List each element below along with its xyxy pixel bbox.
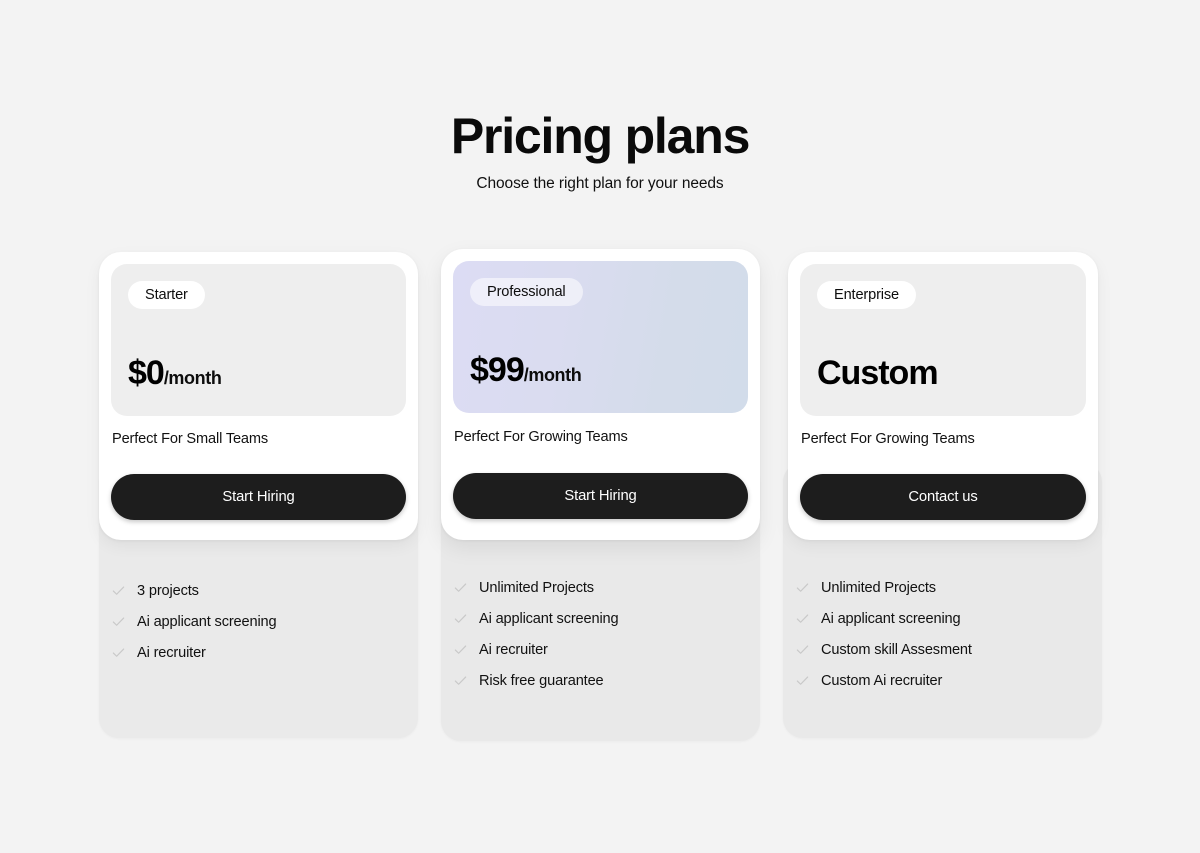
price-period: /month xyxy=(524,366,582,384)
check-icon xyxy=(795,673,810,688)
page-subtitle: Choose the right plan for your needs xyxy=(0,175,1200,193)
plan-badge: Professional xyxy=(470,278,583,306)
check-icon xyxy=(795,642,810,657)
price: $0 /month xyxy=(128,356,221,390)
feature-label: Ai applicant screening xyxy=(479,611,618,627)
price-amount: Custom xyxy=(817,356,938,390)
feature-label: Unlimited Projects xyxy=(821,580,936,596)
feature-label: Risk free guarantee xyxy=(479,673,604,689)
list-item: Ai recruiter xyxy=(111,637,406,668)
feature-label: Custom skill Assesment xyxy=(821,642,972,658)
features-list: 3 projects Ai applicant screening Ai rec… xyxy=(111,575,406,668)
feature-label: Ai recruiter xyxy=(137,645,206,661)
price: Custom xyxy=(817,356,938,390)
check-icon xyxy=(795,611,810,626)
feature-label: Ai applicant screening xyxy=(137,614,276,630)
check-icon xyxy=(453,611,468,626)
feature-label: Unlimited Projects xyxy=(479,580,594,596)
check-icon xyxy=(111,645,126,660)
list-item: Unlimited Projects xyxy=(795,572,1090,603)
plan-card: Enterprise Custom Perfect For Growing Te… xyxy=(788,252,1098,540)
feature-label: Ai recruiter xyxy=(479,642,548,658)
plan-tagline: Perfect For Small Teams xyxy=(112,431,268,447)
feature-label: Ai applicant screening xyxy=(821,611,960,627)
price: $99 /month xyxy=(470,353,581,387)
pricing-plans-container: 3 projects Ai applicant screening Ai rec… xyxy=(99,252,1101,752)
page-header: Pricing plans Choose the right plan for … xyxy=(0,108,1200,193)
cta-button-start-hiring[interactable]: Start Hiring xyxy=(453,473,748,519)
check-icon xyxy=(111,614,126,629)
pricing-plan-professional: Unlimited Projects Ai applicant screenin… xyxy=(441,249,760,741)
pricing-plan-enterprise: Unlimited Projects Ai applicant screenin… xyxy=(783,252,1102,738)
check-icon xyxy=(453,673,468,688)
feature-label: Custom Ai recruiter xyxy=(821,673,942,689)
plan-badge: Enterprise xyxy=(817,281,916,309)
page-title: Pricing plans xyxy=(0,108,1200,164)
check-icon xyxy=(453,580,468,595)
features-list: Unlimited Projects Ai applicant screenin… xyxy=(795,572,1090,696)
price-panel: Enterprise Custom xyxy=(800,264,1086,416)
pricing-plan-starter: 3 projects Ai applicant screening Ai rec… xyxy=(99,252,418,738)
feature-label: 3 projects xyxy=(137,583,199,599)
plan-badge: Starter xyxy=(128,281,205,309)
check-icon xyxy=(453,642,468,657)
list-item: 3 projects xyxy=(111,575,406,606)
list-item: Ai applicant screening xyxy=(453,603,748,634)
list-item: Ai applicant screening xyxy=(111,606,406,637)
list-item: Ai recruiter xyxy=(453,634,748,665)
list-item: Custom Ai recruiter xyxy=(795,665,1090,696)
check-icon xyxy=(111,583,126,598)
check-icon xyxy=(795,580,810,595)
price-amount: $99 xyxy=(470,353,524,387)
plan-tagline: Perfect For Growing Teams xyxy=(801,431,975,447)
list-item: Unlimited Projects xyxy=(453,572,748,603)
cta-button-contact-us[interactable]: Contact us xyxy=(800,474,1086,520)
plan-card: Professional $99 /month Perfect For Grow… xyxy=(441,249,760,540)
list-item: Risk free guarantee xyxy=(453,665,748,696)
plan-tagline: Perfect For Growing Teams xyxy=(454,429,628,445)
list-item: Ai applicant screening xyxy=(795,603,1090,634)
features-list: Unlimited Projects Ai applicant screenin… xyxy=(453,572,748,696)
price-amount: $0 xyxy=(128,356,164,390)
price-panel: Professional $99 /month xyxy=(453,261,748,413)
plan-card: Starter $0 /month Perfect For Small Team… xyxy=(99,252,418,540)
list-item: Custom skill Assesment xyxy=(795,634,1090,665)
cta-button-start-hiring[interactable]: Start Hiring xyxy=(111,474,406,520)
price-period: /month xyxy=(164,369,222,387)
price-panel: Starter $0 /month xyxy=(111,264,406,416)
